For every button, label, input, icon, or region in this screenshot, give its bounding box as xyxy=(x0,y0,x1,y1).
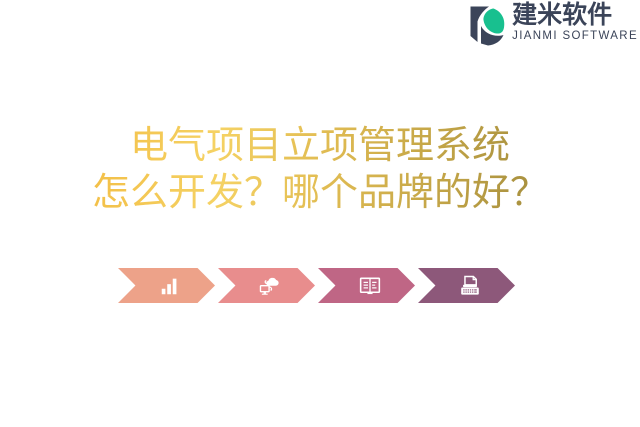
brand-name-en: JIANMI SOFTWARE xyxy=(512,30,638,44)
chevron-step-4 xyxy=(418,268,515,303)
page-title: 电气项目立项管理系统 怎么开发？哪个品牌的好？ xyxy=(0,122,640,216)
printer-icon xyxy=(459,275,481,297)
cloud-computing-icon xyxy=(259,275,281,297)
jianmi-leaf-logo-icon xyxy=(464,2,508,48)
chevron-ribbon xyxy=(118,268,515,303)
chevron-step-3 xyxy=(318,268,415,303)
open-book-icon xyxy=(359,275,381,297)
brand-text-block: 建米软件 JIANMI SOFTWARE xyxy=(512,0,638,44)
page-title-line-2: 怎么开发？哪个品牌的好？ xyxy=(0,169,640,216)
chevron-step-2 xyxy=(218,268,315,303)
page-title-line-1: 电气项目立项管理系统 xyxy=(0,122,640,169)
brand-name-cn: 建米软件 xyxy=(512,1,638,28)
bar-chart-icon xyxy=(159,275,181,297)
chevron-step-1 xyxy=(118,268,215,303)
brand-logo: 建米软件 JIANMI SOFTWARE xyxy=(464,0,638,52)
